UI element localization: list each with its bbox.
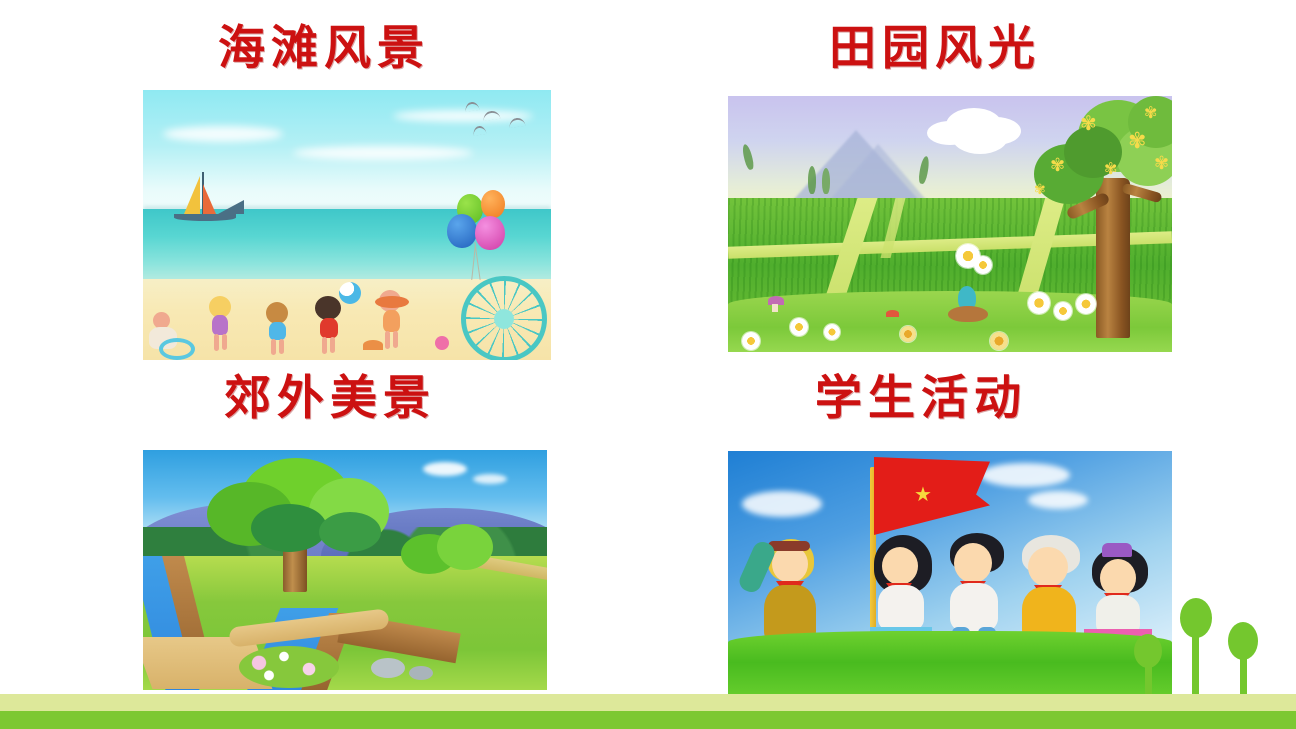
country-tree bbox=[201, 458, 391, 588]
child-figure bbox=[147, 312, 189, 352]
child-figure bbox=[311, 296, 355, 356]
cloud-shape bbox=[946, 108, 1002, 142]
child-figure bbox=[261, 302, 301, 356]
daisy-flower bbox=[900, 326, 916, 342]
starfish-icon bbox=[363, 340, 383, 350]
bottom-bar-light bbox=[0, 694, 1296, 711]
balloon-bunch bbox=[443, 190, 513, 280]
beach-cloud bbox=[293, 146, 473, 160]
mountain-shape bbox=[828, 144, 928, 202]
cloud-shape bbox=[980, 463, 1070, 487]
distant-tree bbox=[822, 168, 830, 194]
daisy-flower bbox=[974, 256, 992, 274]
cloud-shape bbox=[742, 491, 822, 517]
cloud-shape bbox=[423, 462, 467, 476]
balloon-orange bbox=[481, 190, 505, 218]
title-field: 田园风光 bbox=[829, 26, 1041, 73]
daisy-flower bbox=[1076, 294, 1096, 314]
rock bbox=[371, 658, 405, 678]
students-grass bbox=[728, 631, 1172, 694]
cloud-shape bbox=[1028, 491, 1088, 509]
daisy-flower bbox=[1054, 302, 1072, 320]
picture-beach bbox=[143, 90, 551, 360]
daisy-flower bbox=[790, 318, 808, 336]
beach-cloud bbox=[163, 126, 283, 142]
cloud-shape bbox=[473, 474, 507, 484]
rock bbox=[409, 666, 433, 680]
picture-students: ★ bbox=[728, 451, 1172, 694]
small-animal bbox=[946, 286, 990, 324]
flag-star-icon: ★ bbox=[914, 485, 932, 505]
bottom-bar-green bbox=[0, 711, 1296, 729]
shell-icon bbox=[435, 336, 449, 350]
distant-tree bbox=[808, 166, 816, 194]
ferris-wheel-icon bbox=[461, 276, 547, 360]
sailboat-icon bbox=[171, 170, 251, 220]
child-figure bbox=[205, 296, 245, 354]
picture-country bbox=[143, 450, 547, 690]
daisy-flower bbox=[1028, 292, 1050, 314]
daisy-flower bbox=[742, 332, 760, 350]
balloon-blue bbox=[447, 214, 477, 248]
daisy-flower bbox=[824, 324, 840, 340]
title-beach: 海滩风景 bbox=[218, 26, 430, 73]
mushroom-icon bbox=[886, 310, 899, 317]
balloon-pink bbox=[475, 216, 505, 250]
country-bush bbox=[401, 524, 491, 574]
title-country: 郊外美景 bbox=[224, 376, 436, 423]
daisy-flower bbox=[990, 332, 1008, 350]
picture-field: ✾ ✾ ✾ ✾ ✾ ✾ ✾ bbox=[728, 96, 1172, 352]
mushroom-stem bbox=[772, 304, 778, 312]
beach-ball-icon bbox=[339, 282, 361, 304]
slide-canvas: 海滩风景 田园风光 郊外美景 学生活动 bbox=[0, 0, 1296, 729]
title-students: 学生活动 bbox=[815, 376, 1027, 423]
wildflowers bbox=[239, 646, 339, 688]
